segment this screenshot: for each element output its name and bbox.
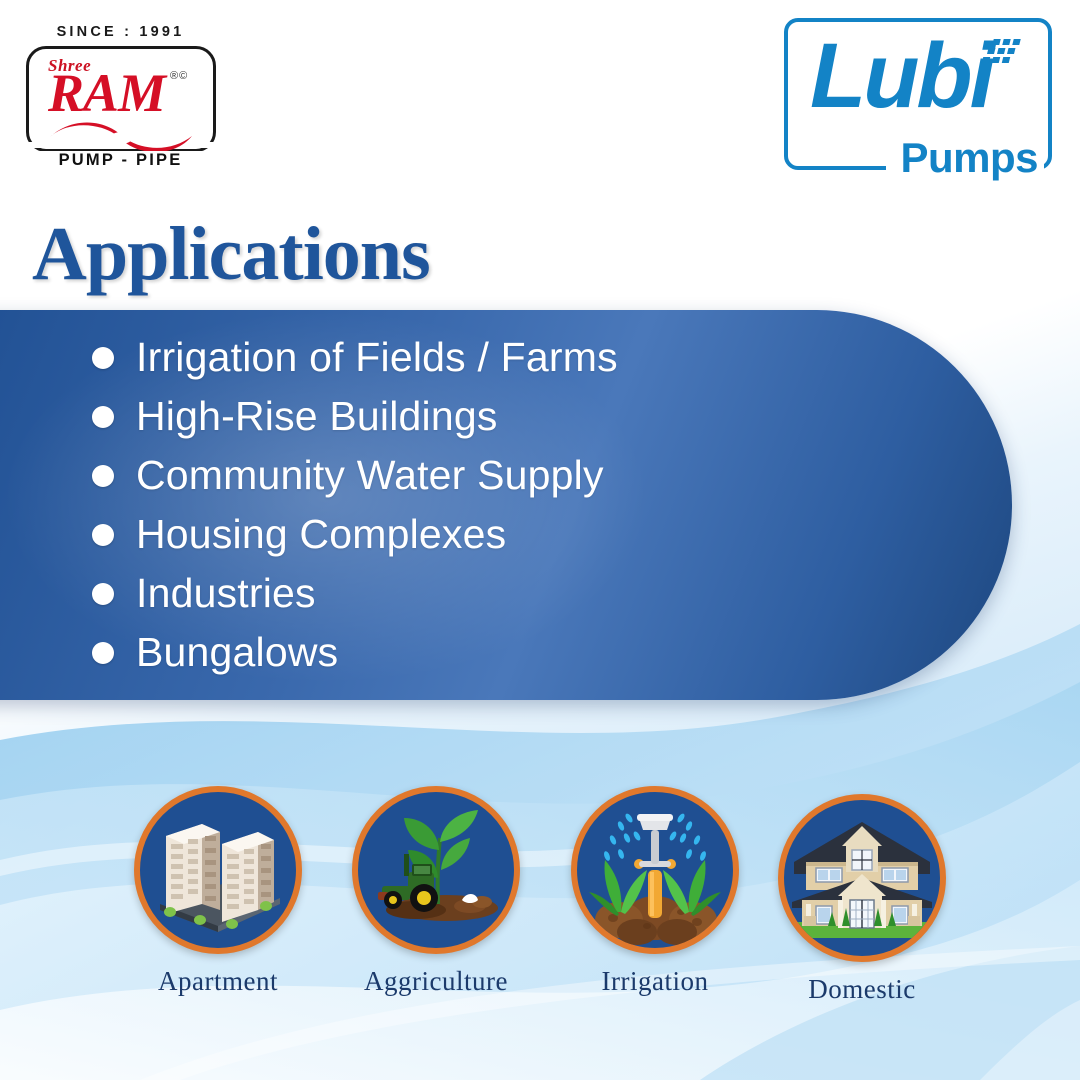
bullet-icon <box>92 465 114 487</box>
pump-pipe-text: PUMP - PIPE <box>18 151 223 170</box>
page-title: Applications <box>32 216 430 292</box>
list-item: Community Water Supply <box>92 446 912 505</box>
list-item: Irrigation of Fields / Farms <box>92 328 912 387</box>
poster-canvas: SINCE : 1991 Shree RAM ®© PUMP - PIPE Lu… <box>0 0 1080 1080</box>
list-item-label: Community Water Supply <box>136 452 604 499</box>
list-item: Industries <box>92 564 912 623</box>
lubi-pumps-label-wrap: Pumps <box>886 136 1044 180</box>
lubi-grid-dots-icon <box>980 38 1024 66</box>
list-item-label: Irrigation of Fields / Farms <box>136 334 618 381</box>
icon-label-domestic: Domestic <box>778 974 946 1005</box>
list-item: Housing Complexes <box>92 505 912 564</box>
list-item-label: High-Rise Buildings <box>136 393 498 440</box>
application-icons-row: Apartment <box>0 780 1080 1040</box>
icon-label-agriculture: Aggriculture <box>352 966 520 997</box>
ram-wordmark: RAM <box>48 66 165 120</box>
applications-list: Irrigation of Fields / Farms High-Rise B… <box>92 328 912 682</box>
bullet-icon <box>92 524 114 546</box>
sprinkler-icon <box>571 786 739 954</box>
shree-ram-logo: SINCE : 1991 Shree RAM ®© PUMP - PIPE <box>18 24 223 164</box>
icon-cell-irrigation: Irrigation <box>571 786 739 997</box>
bullet-icon <box>92 583 114 605</box>
icon-cell-agriculture: Aggriculture <box>352 786 520 997</box>
pumps-wordmark: Pumps <box>900 136 1038 180</box>
bullet-icon <box>92 347 114 369</box>
icon-label-apartment: Apartment <box>134 966 302 997</box>
list-item-label: Housing Complexes <box>136 511 506 558</box>
icon-cell-apartment: Apartment <box>134 786 302 997</box>
list-item-label: Bungalows <box>136 629 338 676</box>
icon-label-irrigation: Irrigation <box>571 966 739 997</box>
icon-cell-domestic: Domestic <box>778 794 946 1005</box>
list-item: High-Rise Buildings <box>92 387 912 446</box>
bullet-icon <box>92 406 114 428</box>
ram-flourish-icon <box>46 120 196 154</box>
list-item-label: Industries <box>136 570 316 617</box>
trademark-marks: ®© <box>170 70 188 82</box>
lubi-pumps-logo: Lubi Pumps <box>784 18 1052 170</box>
since-text: SINCE : 1991 <box>18 24 223 40</box>
tractor-plant-icon <box>352 786 520 954</box>
list-item: Bungalows <box>92 623 912 682</box>
apartment-buildings-icon <box>134 786 302 954</box>
lubi-wordmark: Lubi <box>810 30 992 122</box>
house-icon <box>778 794 946 962</box>
bullet-icon <box>92 642 114 664</box>
